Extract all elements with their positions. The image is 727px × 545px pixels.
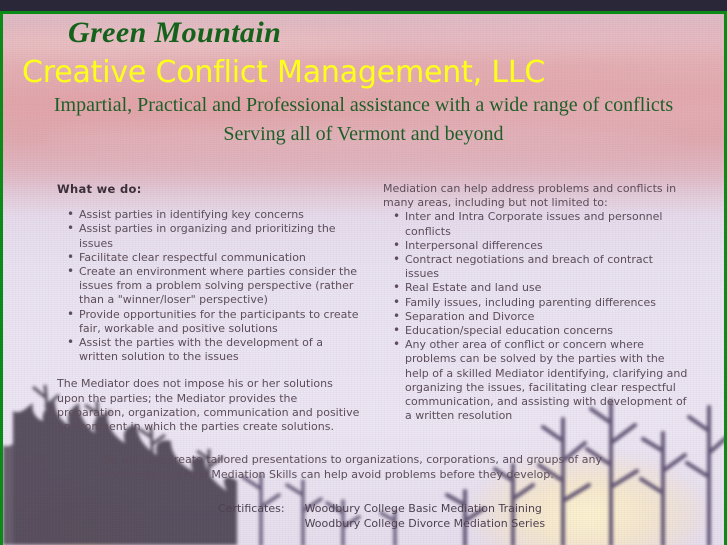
mediation-areas-intro: Mediation can help address problems and … bbox=[383, 182, 688, 210]
list-item: Any other area of conflict or concern wh… bbox=[405, 338, 688, 423]
certificates-label: Certificates: bbox=[218, 502, 285, 531]
brand-name-secondary: Creative Conflict Management, LLC bbox=[22, 55, 545, 90]
list-item: Education/special education concerns bbox=[405, 324, 688, 338]
list-item: Inter and Intra Corporate issues and per… bbox=[405, 210, 688, 238]
tagline-secondary: Serving all of Vermont and beyond bbox=[0, 123, 727, 146]
certificate-item: Woodbury College Basic Mediation Trainin… bbox=[305, 502, 546, 517]
list-item: Real Estate and land use bbox=[405, 281, 688, 295]
list-item: Interpersonal differences bbox=[405, 239, 688, 253]
certificate-item: Woodbury College Divorce Mediation Serie… bbox=[305, 517, 546, 532]
brand-name-primary: Green Mountain bbox=[68, 16, 281, 50]
tagline-primary: Impartial, Practical and Professional as… bbox=[0, 94, 727, 117]
what-we-do-list: Assist parties in identifying key concer… bbox=[57, 208, 362, 364]
page-root: Green Mountain Creative Conflict Managem… bbox=[0, 0, 727, 545]
list-item: Separation and Divorce bbox=[405, 310, 688, 324]
right-column: Mediation can help address problems and … bbox=[383, 182, 688, 423]
page-content: Green Mountain Creative Conflict Managem… bbox=[0, 0, 727, 545]
list-item: Contract negotiations and breach of cont… bbox=[405, 253, 688, 281]
list-item: Assist parties in organizing and priorit… bbox=[79, 222, 362, 250]
list-item: Assist the parties with the development … bbox=[79, 336, 362, 364]
list-item: Provide opportunities for the participan… bbox=[79, 308, 362, 336]
what-we-do-heading: What we do: bbox=[57, 182, 362, 196]
mediator-role-paragraph: The Mediator does not impose his or her … bbox=[57, 377, 362, 434]
list-item: Family issues, including parenting diffe… bbox=[405, 296, 688, 310]
left-column: What we do: Assist parties in identifyin… bbox=[57, 182, 362, 434]
tailored-presentations-note: We will also create tailored presentatio… bbox=[100, 452, 620, 482]
top-dark-strip bbox=[0, 0, 727, 11]
list-item: Assist parties in identifying key concer… bbox=[79, 208, 362, 222]
mediation-areas-list: Inter and Intra Corporate issues and per… bbox=[383, 210, 688, 423]
list-item: Create an environment where parties cons… bbox=[79, 265, 362, 308]
certificates-block: Certificates: Woodbury College Basic Med… bbox=[218, 502, 545, 531]
certificates-list: Woodbury College Basic Mediation Trainin… bbox=[305, 502, 546, 531]
list-item: Facilitate clear respectful communicatio… bbox=[79, 251, 362, 265]
